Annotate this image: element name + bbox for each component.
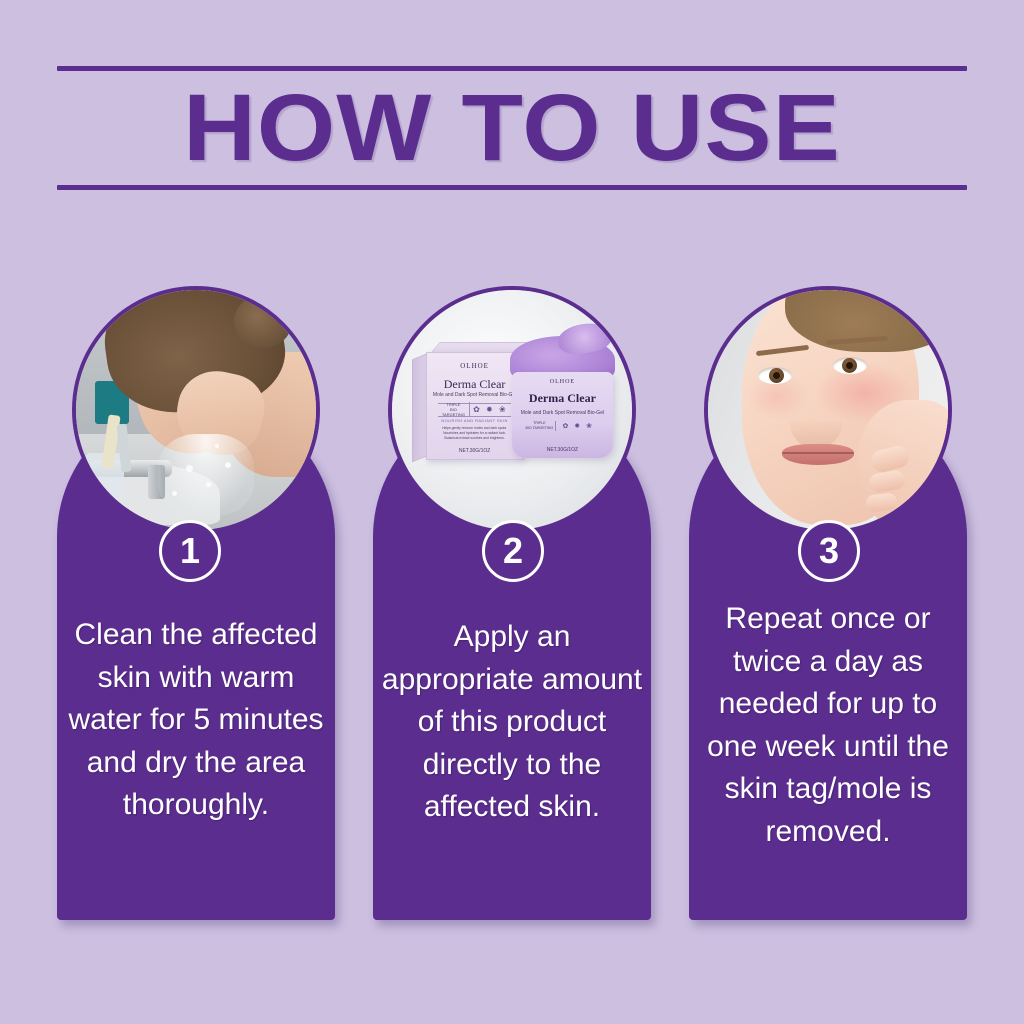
jar-product-subtitle: Mole and Dark Spot Removal Bio-Gel — [512, 410, 613, 416]
step-number-badge-1: 1 — [159, 520, 221, 582]
product-jar: OLHOE Derma Clear Mole and Dark Spot Rem… — [512, 372, 613, 458]
box-brand-label: OLHOE — [427, 362, 523, 370]
bathroom-scene — [76, 290, 316, 530]
eye-left — [758, 367, 792, 384]
eye-right — [833, 357, 867, 374]
step-1-photo — [72, 286, 320, 534]
jar-brand-label: OLHOE — [512, 379, 613, 385]
iris-left — [769, 368, 784, 383]
water-drop — [225, 462, 231, 468]
step-3-photo — [704, 286, 952, 534]
jar-product-name: Derma Clear — [512, 391, 613, 406]
water-drop — [206, 482, 211, 487]
step-2-photo: OLHOE Derma Clear Mole and Dark Spot Rem… — [388, 286, 636, 534]
jar-badge-line1: TRIPLE — [533, 421, 546, 425]
box-net-weight: NET.30G/1OZ — [427, 448, 523, 454]
box-feature-icons: ✿ ✹ ❀ — [470, 405, 511, 414]
pupil-left — [773, 372, 780, 379]
jar-net-weight: NET.30G/1OZ — [512, 447, 613, 453]
box-badge-line2: BIO TARGETING — [442, 407, 465, 417]
step-1-text: Clean the affected skin with warm water … — [65, 614, 327, 827]
woman-touching-cheek-photo — [708, 290, 948, 530]
iris-right — [842, 358, 857, 373]
product-box-and-jar-photo: OLHOE Derma Clear Mole and Dark Spot Rem… — [392, 290, 632, 530]
box-badge-text: TRIPLE BIO TARGETING — [438, 402, 470, 417]
box-badge-bar: TRIPLE BIO TARGETING ✿ ✹ ❀ — [438, 403, 511, 417]
jar-badge-bar: TRIPLE BIO TARGETING ✿ ✹ ❀ — [524, 420, 601, 432]
product-scene: OLHOE Derma Clear Mole and Dark Spot Rem… — [392, 290, 632, 530]
jar-badge-line2: BIO TARGETING — [526, 426, 554, 430]
box-product-subtitle: Mole and Dark Spot Removal Bio-Gel — [427, 392, 523, 398]
hair-bun — [234, 295, 292, 348]
lip-line — [782, 452, 854, 454]
step-number-badge-3: 3 — [798, 520, 860, 582]
steps-container: Clean the affected skin with warm water … — [0, 0, 1024, 1024]
pupil-right — [846, 362, 853, 369]
box-claim-text: NOURISH AND RADIANT SKIN — [427, 418, 523, 423]
product-box-front-face: OLHOE Derma Clear Mole and Dark Spot Rem… — [426, 352, 524, 460]
step-2-text: Apply an appropriate amount of this prod… — [381, 616, 643, 829]
jar-badge-text: TRIPLE BIO TARGETING — [524, 421, 556, 430]
step-number-badge-2: 2 — [482, 520, 544, 582]
box-product-name: Derma Clear — [427, 377, 523, 392]
portrait-scene — [708, 290, 948, 530]
jar-feature-icons: ✿ ✹ ❀ — [556, 422, 601, 430]
woman-washing-face-photo — [76, 290, 316, 530]
splashing-water — [158, 434, 254, 516]
box-description-text: Helps gently remove moles and dark spots… — [436, 426, 513, 441]
step-3-text: Repeat once or twice a day as needed for… — [697, 598, 959, 854]
